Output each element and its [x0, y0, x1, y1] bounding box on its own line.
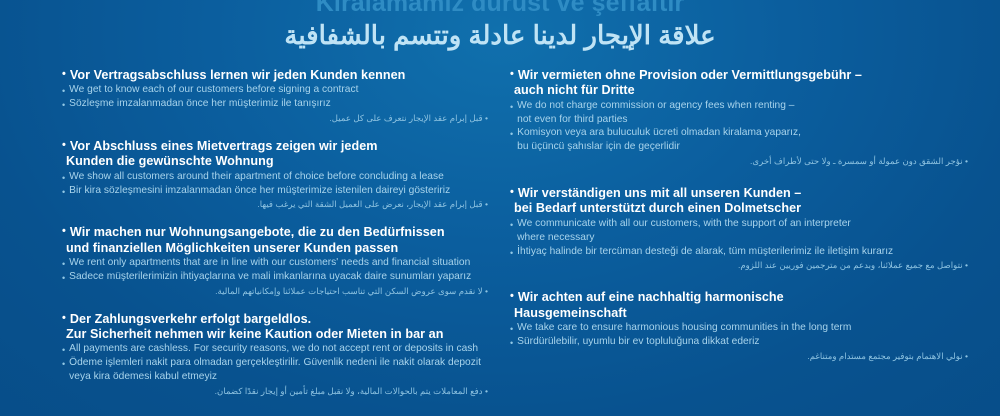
german-line: auch nicht für Dritte	[510, 83, 970, 98]
german-text: Wir achten auf eine nachhaltig harmonisc…	[518, 290, 970, 305]
english-line: •We get to know each of our customers be…	[62, 83, 490, 97]
german-line: •Wir verständigen uns mit all unseren Ku…	[510, 186, 970, 201]
english-text: We communicate with all our customers, w…	[517, 217, 970, 231]
slide-heading: Kiralamamız dürüst ve şeffaftır علاقة ال…	[0, 0, 1000, 49]
bullet-icon: •	[62, 256, 69, 269]
bullet-block: •Wir machen nur Wohnungsangebote, die zu…	[62, 225, 490, 297]
bullet-icon: •	[62, 170, 69, 183]
heading-turkish: Kiralamamız dürüst ve şeffaftır	[0, 0, 1000, 17]
german-text: Wir verständigen uns mit all unseren Kun…	[518, 186, 970, 201]
arabic-line: • نتواصل مع جميع عملائنا، وبدعم من مترجم…	[510, 259, 970, 272]
bullet-icon: •	[510, 99, 517, 112]
turkish-line: •veya kira ödemesi kabul etmeyiz	[62, 370, 490, 384]
turkish-text: İhtiyaç halinde bir tercüman desteği de …	[517, 245, 970, 259]
bullet-block: •Vor Vertragsabschluss lernen wir jeden …	[62, 68, 490, 125]
english-line: •where necessary	[510, 231, 970, 245]
english-text: We show all customers around their apart…	[69, 170, 490, 184]
turkish-text: bu üçüncü şahıslar için de geçerlidir	[517, 140, 970, 154]
english-line: •We rent only apartments that are in lin…	[62, 256, 490, 270]
turkish-text: Bir kira sözleşmesini imzalanmadan önce …	[69, 184, 490, 198]
german-line: Kunden die gewünschte Wohnung	[62, 154, 490, 169]
column-right: •Wir vermieten ohne Provision oder Vermi…	[500, 68, 1000, 416]
bullet-icon: •	[62, 97, 69, 110]
bullet-icon: •	[510, 245, 517, 258]
german-line: •Vor Abschluss eines Mietvertrags zeigen…	[62, 139, 490, 154]
bullet-icon: •	[510, 290, 518, 302]
german-text: auch nicht für Dritte	[514, 83, 970, 98]
english-text: where necessary	[517, 231, 970, 245]
english-text: We get to know each of our customers bef…	[69, 83, 490, 97]
turkish-line: •Ödeme işlemleri nakit para olmadan gerç…	[62, 356, 490, 370]
bullet-icon: •	[510, 321, 517, 334]
german-line: •Der Zahlungsverkehr erfolgt bargeldlos.	[62, 312, 490, 327]
bullet-icon: •	[510, 126, 517, 139]
bullet-icon: •	[62, 312, 70, 324]
english-text: not even for third parties	[517, 113, 970, 127]
german-text: Zur Sicherheit nehmen wir keine Kaution …	[66, 327, 490, 342]
slide-root: Kiralamamız dürüst ve şeffaftır علاقة ال…	[0, 0, 1000, 416]
content-columns: •Vor Vertragsabschluss lernen wir jeden …	[0, 68, 1000, 416]
arabic-line: • لا نقدم سوى عروض السكن التي تناسب احتي…	[62, 285, 490, 298]
bullet-icon: •	[510, 68, 518, 80]
german-line: •Wir achten auf eine nachhaltig harmonis…	[510, 290, 970, 305]
german-text: bei Bedarf unterstützt durch einen Dolme…	[514, 201, 970, 216]
arabic-line: • نولي الاهتمام بتوفير مجتمع مستدام ومتن…	[510, 350, 970, 363]
turkish-line: •bu üçüncü şahıslar için de geçerlidir	[510, 140, 970, 154]
english-line: •We communicate with all our customers, …	[510, 217, 970, 231]
bullet-icon: •	[62, 342, 69, 355]
english-line: •not even for third parties	[510, 113, 970, 127]
bullet-icon: •	[62, 83, 69, 96]
turkish-line: •Sözleşme imzalanmadan önce her müşterim…	[62, 97, 490, 111]
bullet-icon: •	[62, 139, 70, 151]
bullet-icon: •	[510, 217, 517, 230]
column-left: •Vor Vertragsabschluss lernen wir jeden …	[0, 68, 500, 416]
turkish-text: Sözleşme imzalanmadan önce her müşterimi…	[69, 97, 490, 111]
english-line: •We show all customers around their apar…	[62, 170, 490, 184]
bullet-block: •Der Zahlungsverkehr erfolgt bargeldlos.…	[62, 312, 490, 398]
english-line: •We do not charge commission or agency f…	[510, 99, 970, 113]
german-line: und finanziellen Möglichkeiten unserer K…	[62, 241, 490, 256]
turkish-text: veya kira ödemesi kabul etmeyiz	[69, 370, 490, 384]
english-line: •We take care to ensure harmonious housi…	[510, 321, 970, 335]
english-text: We rent only apartments that are in line…	[69, 256, 490, 270]
arabic-line: • نؤجر الشقق دون عمولة أو سمسرة ـ ولا حت…	[510, 155, 970, 168]
bullet-block: •Wir verständigen uns mit all unseren Ku…	[510, 186, 970, 272]
arabic-line: • دفع المعاملات يتم بالحوالات المالية، و…	[62, 385, 490, 398]
english-text: All payments are cashless. For security …	[69, 342, 490, 356]
turkish-text: Ödeme işlemleri nakit para olmadan gerçe…	[69, 356, 490, 370]
english-text: We take care to ensure harmonious housin…	[517, 321, 970, 335]
german-text: und finanziellen Möglichkeiten unserer K…	[66, 241, 490, 256]
turkish-line: •Sadece müşterilerimizin ihtiyaçlarına v…	[62, 270, 490, 284]
turkish-text: Sürdürülebilir, uyumlu bir ev topluluğun…	[517, 335, 970, 349]
heading-arabic: علاقة الإيجار لدينا عادلة وتتسم بالشفافي…	[0, 21, 1000, 49]
turkish-text: Sadece müşterilerimizin ihtiyaçlarına ve…	[69, 270, 490, 284]
german-line: bei Bedarf unterstützt durch einen Dolme…	[510, 201, 970, 216]
bullet-icon: •	[510, 186, 518, 198]
german-text: Wir vermieten ohne Provision oder Vermit…	[518, 68, 970, 83]
german-line: •Wir machen nur Wohnungsangebote, die zu…	[62, 225, 490, 240]
bullet-block: •Wir vermieten ohne Provision oder Vermi…	[510, 68, 970, 168]
german-text: Der Zahlungsverkehr erfolgt bargeldlos.	[70, 312, 490, 327]
turkish-line: •Bir kira sözleşmesini imzalanmadan önce…	[62, 184, 490, 198]
english-line: •All payments are cashless. For security…	[62, 342, 490, 356]
german-text: Kunden die gewünschte Wohnung	[66, 154, 490, 169]
bullet-icon: •	[62, 68, 70, 80]
bullet-icon: •	[62, 225, 70, 237]
bullet-icon: •	[62, 270, 69, 283]
turkish-line: •Sürdürülebilir, uyumlu bir ev topluluğu…	[510, 335, 970, 349]
german-text: Wir machen nur Wohnungsangebote, die zu …	[70, 225, 490, 240]
english-text: We do not charge commission or agency fe…	[517, 99, 970, 113]
german-line: •Wir vermieten ohne Provision oder Vermi…	[510, 68, 970, 83]
turkish-line: •Komisyon veya ara buluculuk ücreti olma…	[510, 126, 970, 140]
bullet-icon: •	[62, 356, 69, 369]
bullet-block: •Vor Abschluss eines Mietvertrags zeigen…	[62, 139, 490, 211]
turkish-text: Komisyon veya ara buluculuk ücreti olmad…	[517, 126, 970, 140]
german-text: Vor Vertragsabschluss lernen wir jeden K…	[70, 68, 490, 83]
german-text: Vor Abschluss eines Mietvertrags zeigen …	[70, 139, 490, 154]
bullet-icon: •	[510, 335, 517, 348]
turkish-line: •İhtiyaç halinde bir tercüman desteği de…	[510, 245, 970, 259]
arabic-line: • قبل إبرام عقد الإيجار نتعرف على كل عمي…	[62, 112, 490, 125]
bullet-icon: •	[62, 184, 69, 197]
arabic-line: • قبل إبرام عقد الإيجار، نعرض على العميل…	[62, 198, 490, 211]
german-line: •Vor Vertragsabschluss lernen wir jeden …	[62, 68, 490, 83]
bullet-block: •Wir achten auf eine nachhaltig harmonis…	[510, 290, 970, 362]
german-line: Zur Sicherheit nehmen wir keine Kaution …	[62, 327, 490, 342]
german-text: Hausgemeinschaft	[514, 306, 970, 321]
german-line: Hausgemeinschaft	[510, 306, 970, 321]
